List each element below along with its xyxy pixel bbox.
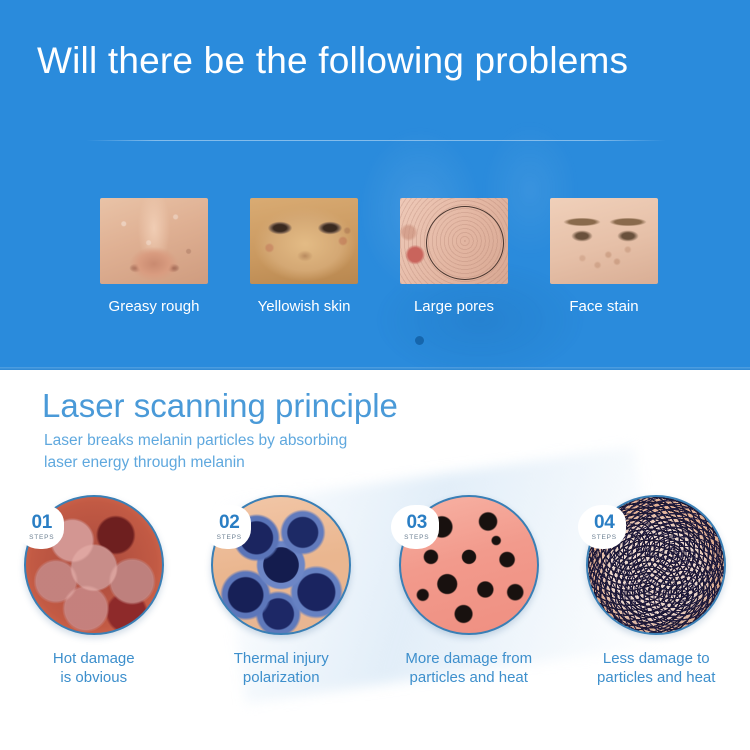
- step-item-03[interactable]: 03 STEPS More damage from particles and …: [375, 495, 563, 687]
- face-stain-image: [550, 198, 658, 284]
- step-steps-label: STEPS: [592, 533, 617, 542]
- section-title: Laser scanning principle: [42, 386, 398, 426]
- problem-item-face-stain[interactable]: Face stain: [550, 198, 658, 316]
- step-02-badge: 02 STEPS: [203, 505, 251, 549]
- problem-label: Yellowish skin: [250, 298, 358, 316]
- problem-item-yellowish-skin[interactable]: Yellowish skin: [250, 198, 358, 316]
- step-steps-label: STEPS: [404, 533, 429, 542]
- problem-item-large-pores[interactable]: Large pores: [400, 198, 508, 316]
- step-steps-label: STEPS: [217, 533, 242, 542]
- step-steps-label: STEPS: [29, 533, 54, 542]
- greasy-rough-image: [100, 198, 208, 284]
- problem-label: Large pores: [400, 298, 508, 316]
- step-01-badge: 01 STEPS: [16, 505, 64, 549]
- step-caption-line-1: More damage from: [375, 649, 563, 668]
- hero-divider: [86, 140, 666, 141]
- product-detail-page: Will there be the following problems Gre…: [0, 0, 750, 750]
- problem-label: Face stain: [550, 298, 658, 316]
- step-number: 02: [219, 513, 240, 532]
- step-caption-line-2: particles and heat: [563, 668, 750, 687]
- step-bubble-wrap: 02 STEPS: [211, 495, 351, 635]
- step-caption-line-1: Thermal injury: [188, 649, 376, 668]
- step-caption: Hot damage is obvious: [0, 649, 188, 687]
- step-caption: More damage from particles and heat: [375, 649, 563, 687]
- carousel-dot-indicator[interactable]: [415, 336, 424, 345]
- problems-hero-section: Will there be the following problems Gre…: [0, 0, 750, 370]
- step-number: 04: [594, 513, 615, 532]
- laser-principle-section: Laser scanning principle Laser breaks me…: [0, 370, 750, 750]
- step-caption-line-2: polarization: [188, 668, 376, 687]
- step-number: 01: [31, 513, 52, 532]
- problem-thumbnail-list: Greasy rough Yellowish skin Large pores …: [0, 198, 750, 316]
- step-item-01[interactable]: 01 STEPS Hot damage is obvious: [0, 495, 188, 687]
- section-subtitle-line-2: laser energy through melanin: [44, 452, 347, 474]
- step-caption-line-1: Less damage to: [563, 649, 750, 668]
- step-number: 03: [406, 513, 427, 532]
- yellowish-skin-image: [250, 198, 358, 284]
- step-bubble-wrap: 01 STEPS: [24, 495, 164, 635]
- step-list: 01 STEPS Hot damage is obvious 02 STEPS: [0, 495, 750, 687]
- problem-label: Greasy rough: [100, 298, 208, 316]
- step-bubble-wrap: 03 STEPS: [399, 495, 539, 635]
- step-caption-line-2: particles and heat: [375, 668, 563, 687]
- section-subtitle-line-1: Laser breaks melanin particles by absorb…: [44, 430, 347, 452]
- step-caption: Less damage to particles and heat: [563, 649, 750, 687]
- step-bubble-wrap: 04 STEPS: [586, 495, 726, 635]
- section-subtitle: Laser breaks melanin particles by absorb…: [44, 430, 347, 474]
- large-pores-image: [400, 198, 508, 284]
- step-caption-line-2: is obvious: [0, 668, 188, 687]
- problem-item-greasy-rough[interactable]: Greasy rough: [100, 198, 208, 316]
- step-item-04[interactable]: 04 STEPS Less damage to particles and he…: [563, 495, 750, 687]
- step-caption: Thermal injury polarization: [188, 649, 376, 687]
- step-item-02[interactable]: 02 STEPS Thermal injury polarization: [188, 495, 376, 687]
- page-title: Will there be the following problems: [37, 38, 628, 84]
- step-04-badge: 04 STEPS: [578, 505, 626, 549]
- step-caption-line-1: Hot damage: [0, 649, 188, 668]
- step-03-badge: 03 STEPS: [391, 505, 439, 549]
